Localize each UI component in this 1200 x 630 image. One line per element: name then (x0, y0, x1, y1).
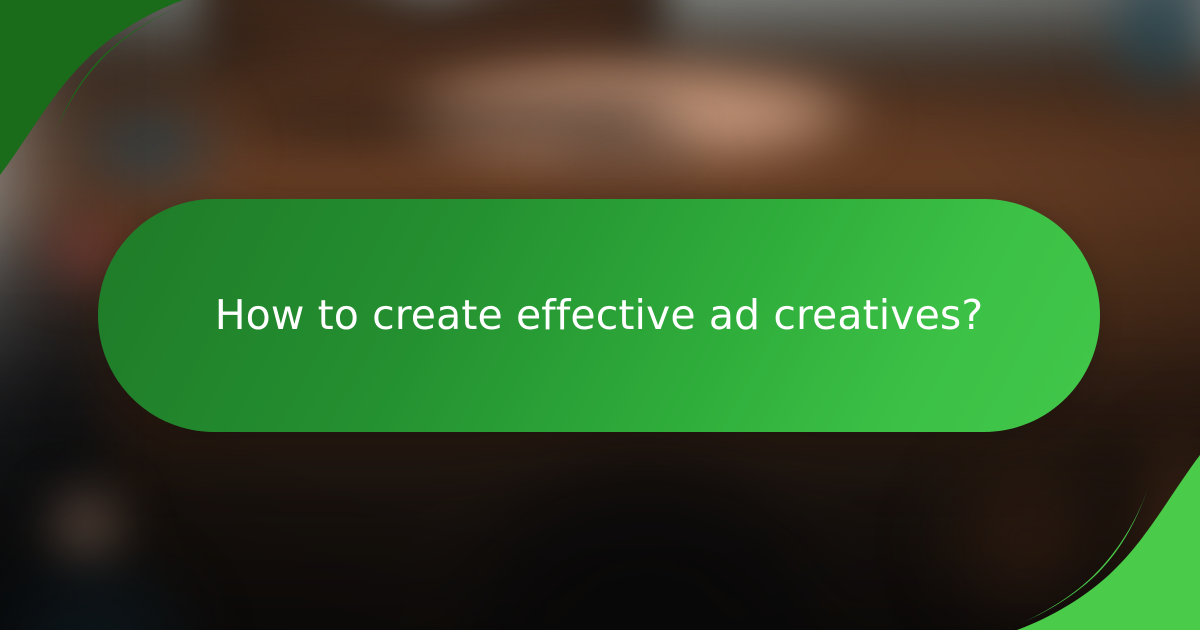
headline-text: How to create effective ad creatives? (215, 295, 984, 336)
social-card-canvas: How to create effective ad creatives? (0, 0, 1200, 630)
headline-card: How to create effective ad creatives? (98, 199, 1100, 432)
